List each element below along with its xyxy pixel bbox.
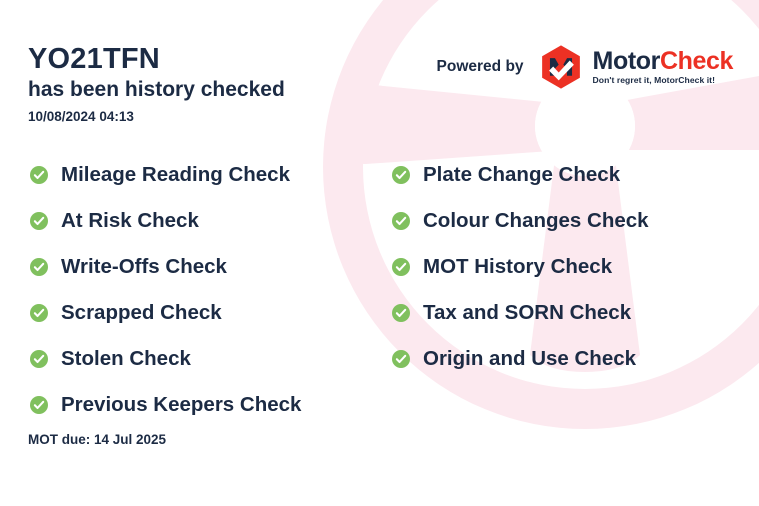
check-list-left-column: Mileage Reading Check At Risk Check Writ… [30, 152, 301, 428]
check-label: Previous Keepers Check [61, 395, 301, 416]
list-item: Colour Changes Check [392, 198, 649, 244]
check-list-right-column: Plate Change Check Colour Changes Check … [392, 152, 649, 382]
check-circle-icon [392, 166, 410, 184]
list-item: Plate Change Check [392, 152, 649, 198]
powered-by-brand-block: Powered by MotorCheck Don't regret it, M… [437, 44, 733, 90]
check-label: At Risk Check [61, 211, 199, 232]
list-item: At Risk Check [30, 198, 301, 244]
page-title-registration-plate: YO21TFN [28, 42, 285, 76]
check-circle-icon [392, 350, 410, 368]
check-label: Tax and SORN Check [423, 303, 631, 324]
check-circle-icon [30, 350, 48, 368]
check-label: Stolen Check [61, 349, 191, 370]
mot-due-date: MOT due: 14 Jul 2025 [28, 432, 166, 447]
check-circle-icon [30, 396, 48, 414]
check-circle-icon [392, 258, 410, 276]
motorcheck-logo-lockup[interactable]: MotorCheck Don't regret it, MotorCheck i… [538, 44, 733, 90]
motorcheck-wordmark: MotorCheck Don't regret it, MotorCheck i… [593, 49, 733, 85]
check-label: Colour Changes Check [423, 211, 649, 232]
check-circle-icon [392, 304, 410, 322]
check-circle-icon [30, 258, 48, 276]
check-label: Write-Offs Check [61, 257, 227, 278]
list-item: Origin and Use Check [392, 336, 649, 382]
check-timestamp: 10/08/2024 04:13 [28, 109, 285, 124]
list-item: Stolen Check [30, 336, 301, 382]
motorcheck-hex-logo-icon [538, 44, 584, 90]
list-item: Previous Keepers Check [30, 382, 301, 428]
list-item: Write-Offs Check [30, 244, 301, 290]
powered-by-label: Powered by [437, 58, 524, 76]
list-item: Tax and SORN Check [392, 290, 649, 336]
check-label: Origin and Use Check [423, 349, 636, 370]
vehicle-history-check-card: YO21TFN has been history checked 10/08/2… [0, 0, 759, 506]
list-item: Scrapped Check [30, 290, 301, 336]
check-circle-icon [30, 212, 48, 230]
check-label: Mileage Reading Check [61, 165, 290, 186]
header: YO21TFN has been history checked 10/08/2… [28, 42, 285, 124]
check-circle-icon [30, 304, 48, 322]
brand-tagline: Don't regret it, MotorCheck it! [593, 76, 733, 85]
list-item: MOT History Check [392, 244, 649, 290]
wordmark-check: Check [660, 47, 733, 75]
check-circle-icon [392, 212, 410, 230]
check-circle-icon [30, 166, 48, 184]
check-label: MOT History Check [423, 257, 612, 278]
wordmark-motor: Motor [593, 47, 660, 75]
check-label: Scrapped Check [61, 303, 222, 324]
check-label: Plate Change Check [423, 165, 620, 186]
page-subtitle: has been history checked [28, 77, 285, 103]
list-item: Mileage Reading Check [30, 152, 301, 198]
